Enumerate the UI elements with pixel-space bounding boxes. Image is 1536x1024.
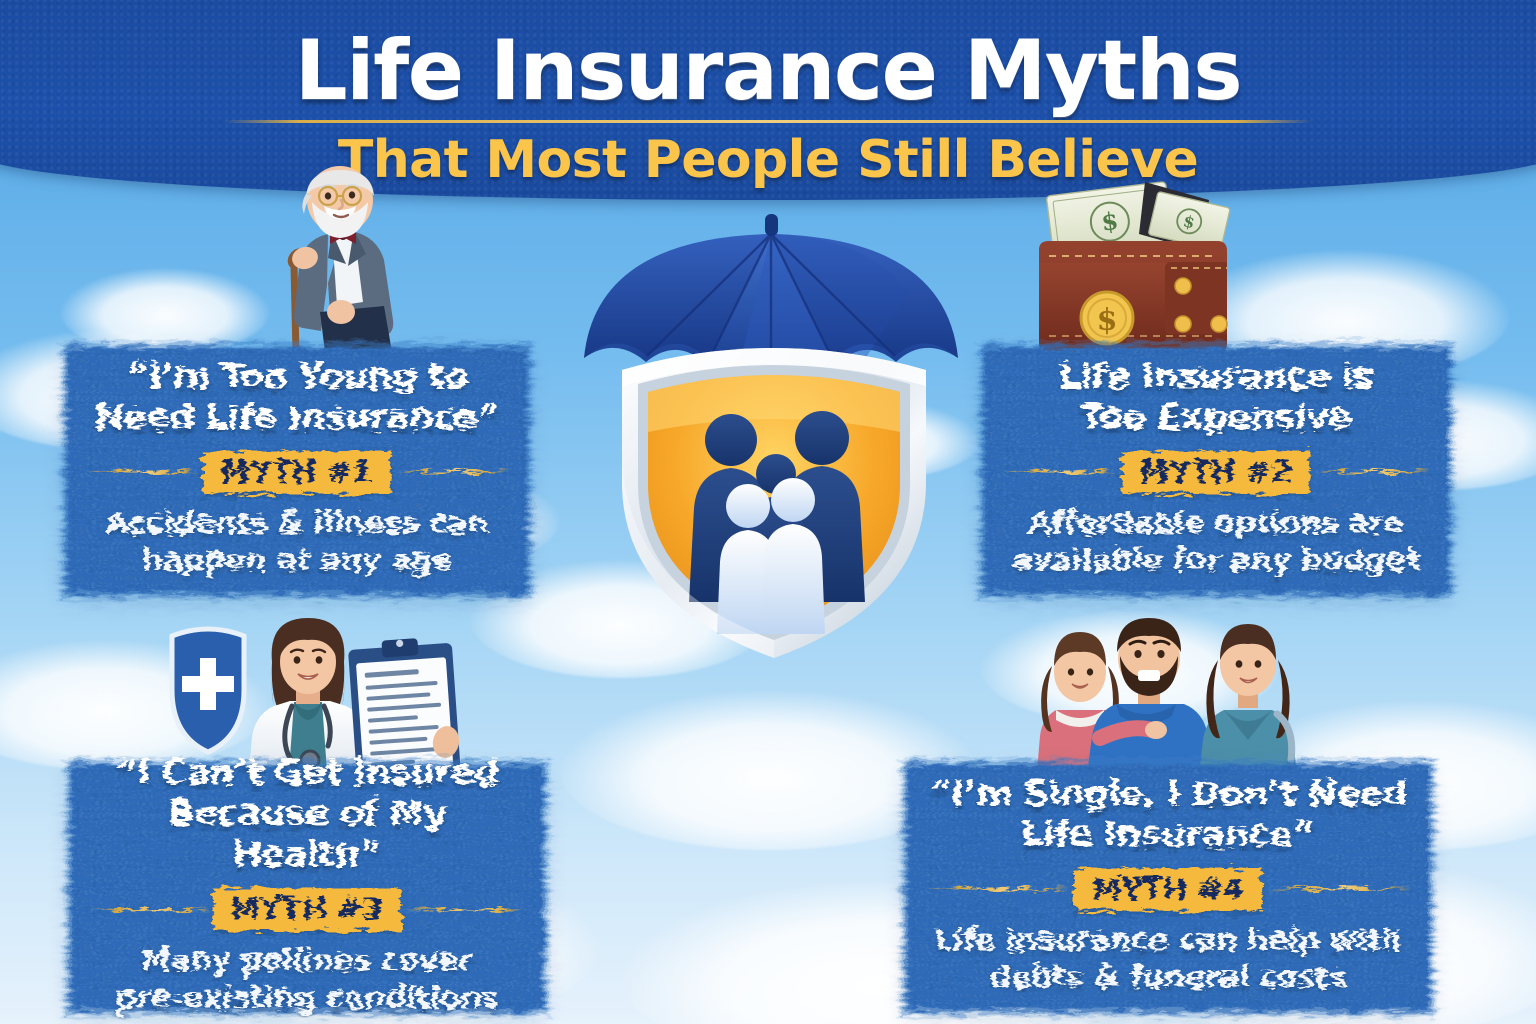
myth-card-4[interactable]: “I’m Single, I Don’t NeedLife Insurance”… bbox=[908, 766, 1428, 1009]
header-content: Life Insurance Myths That Most People St… bbox=[0, 30, 1536, 190]
myth-fact: Affordable options areavailable for any … bbox=[1012, 505, 1419, 581]
badge-rule-left bbox=[90, 909, 209, 911]
myth-title: “I’m Single, I Don’t NeedLife Insurance” bbox=[929, 774, 1408, 856]
status-badge: MYTH #3 bbox=[213, 888, 401, 931]
badge-rule-left bbox=[926, 888, 1070, 890]
wallet-with-money-icon: $ $ $ bbox=[1033, 176, 1233, 356]
svg-text:$: $ bbox=[1097, 303, 1118, 338]
cloud bbox=[60, 268, 270, 354]
myth-fact: Life insurance can help withdebts & fune… bbox=[934, 922, 1402, 998]
myth-title: Life Insurance isToo Expensive bbox=[1059, 357, 1373, 439]
myth-card-1[interactable]: “I’m Too Young toNeed Life Insurance” MY… bbox=[68, 349, 526, 592]
svg-text:$: $ bbox=[1100, 206, 1120, 237]
status-badge: MYTH #2 bbox=[1122, 451, 1310, 494]
page-title: Life Insurance Myths bbox=[295, 30, 1241, 111]
myth-fact: Many poliines coverpre-existing conditio… bbox=[115, 942, 499, 1018]
myth-title: “I’m Too Young toNeed Life Insurance” bbox=[95, 357, 499, 439]
badge-rule-left bbox=[86, 471, 199, 473]
myth-card-3[interactable]: “I Can’t Get InsuredBecause of My Health… bbox=[72, 766, 542, 1009]
family-of-three-icon bbox=[1030, 618, 1315, 783]
badge-rule-right bbox=[405, 909, 524, 911]
myth-badge-row: MYTH #4 bbox=[926, 868, 1410, 911]
status-badge: MYTH #4 bbox=[1074, 868, 1262, 911]
infographic-poster: Life Insurance Myths That Most People St… bbox=[0, 0, 1536, 1024]
umbrella-shield-emblem bbox=[578, 212, 970, 658]
badge-rule-right bbox=[1314, 471, 1429, 473]
myth-badge-row: MYTH #1 bbox=[86, 451, 508, 494]
myth-badge-row: MYTH #3 bbox=[90, 888, 524, 931]
status-badge: MYTH #1 bbox=[203, 451, 391, 494]
father-figure bbox=[1086, 618, 1214, 783]
myth-badge-row: MYTH #2 bbox=[1003, 451, 1429, 494]
badge-rule-right bbox=[1266, 888, 1410, 890]
medical-shield-icon bbox=[172, 629, 244, 752]
badge-rule-right bbox=[395, 471, 508, 473]
myth-card-2[interactable]: Life Insurance isToo Expensive MYTH #2 A… bbox=[985, 349, 1447, 592]
elderly-man-icon bbox=[258, 172, 434, 357]
badge-rule-left bbox=[1003, 471, 1118, 473]
mother-figure bbox=[1198, 624, 1298, 783]
myth-title: “I Can’t Get InsuredBecause of My Health… bbox=[90, 753, 524, 876]
title-divider bbox=[223, 120, 1313, 123]
myth-fact: Accidents & illness canhappen at any age bbox=[106, 505, 489, 581]
